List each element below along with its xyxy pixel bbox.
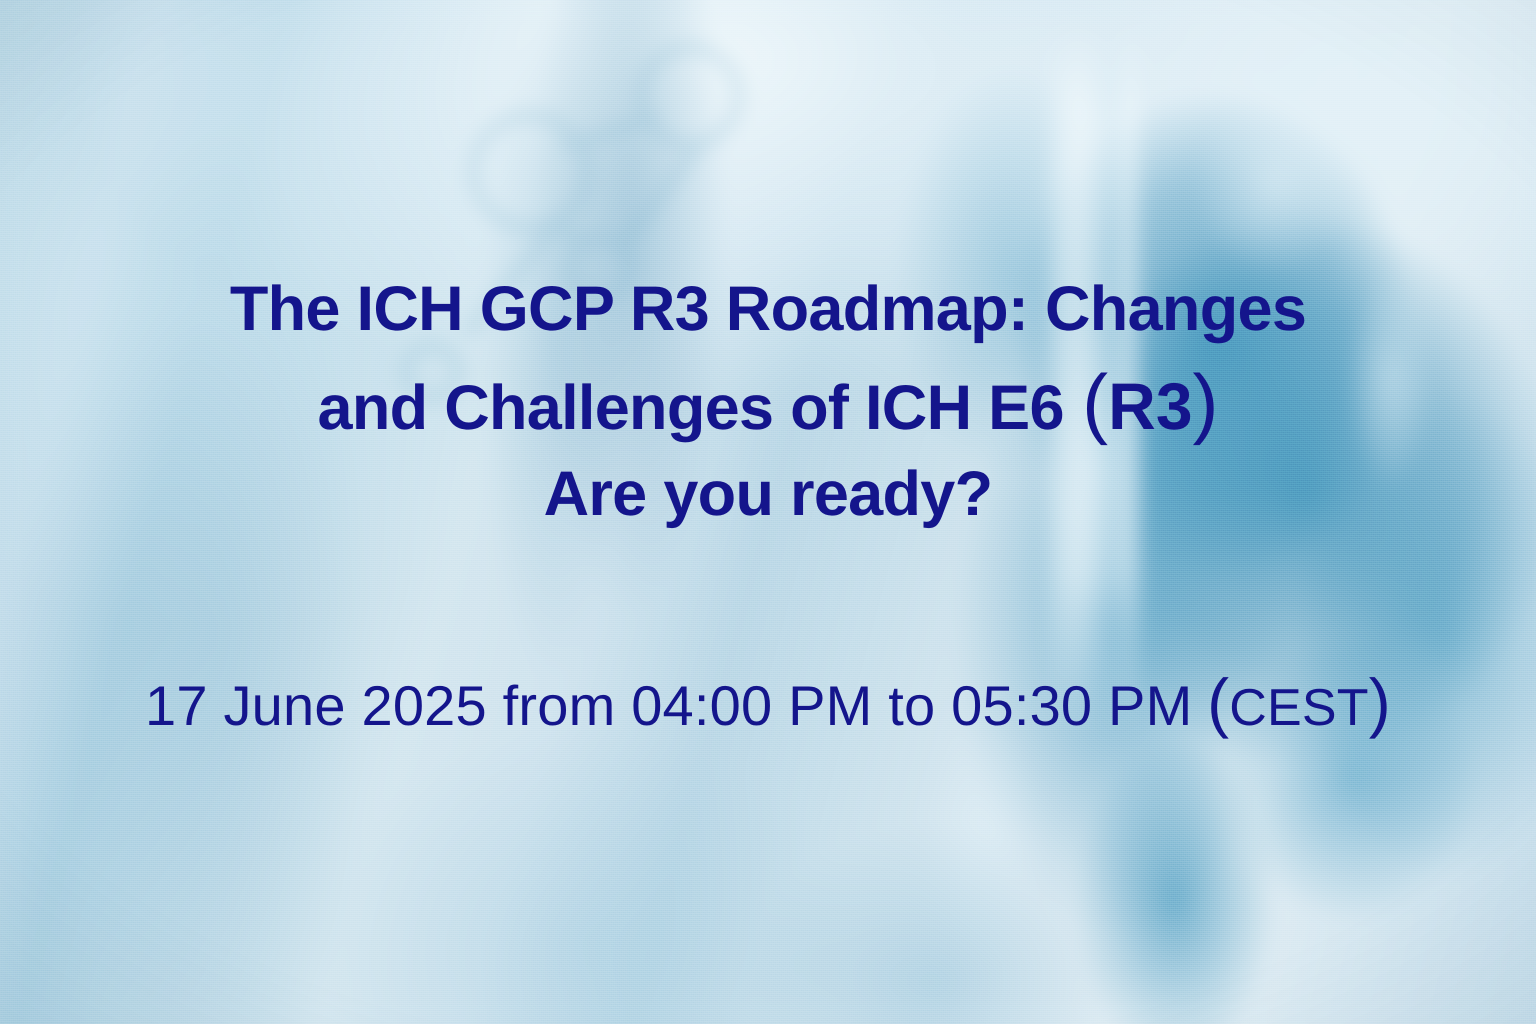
timezone-paren-close: ) [1369,665,1391,739]
banner-content: The ICH GCP R3 Roadmap: Changes and Chal… [0,0,1536,1024]
revision-paren-open: ( [1082,358,1108,446]
title-line-2-text: and Challenges of ICH E6 [317,373,1063,443]
event-date: 17 June 2025 [145,674,487,737]
revision-token: (R3) [1064,369,1219,443]
event-datetime: 17 June 2025 from 04:00 PM to 05:30 PM (… [0,668,1536,737]
title-line-3: Are you ready? [24,463,1512,526]
event-from-label: from [503,674,616,737]
webinar-promo-banner: The ICH GCP R3 Roadmap: Changes and Chal… [0,0,1536,1024]
timezone-paren-open: ( [1207,665,1229,739]
event-to-label: to [888,674,935,737]
event-start-time: 04:00 PM [631,674,872,737]
title-line-2: and Challenges of ICH E6 (R3) [24,363,1512,441]
revision-label: R3 [1108,369,1192,443]
timezone-label: CEST [1229,679,1368,737]
page-title: The ICH GCP R3 Roadmap: Changes and Chal… [0,278,1536,526]
event-end-time: 05:30 PM [951,674,1192,737]
timezone-token: (CEST) [1192,679,1391,737]
revision-paren-close: ) [1193,358,1219,446]
title-line-1: The ICH GCP R3 Roadmap: Changes [24,278,1512,341]
